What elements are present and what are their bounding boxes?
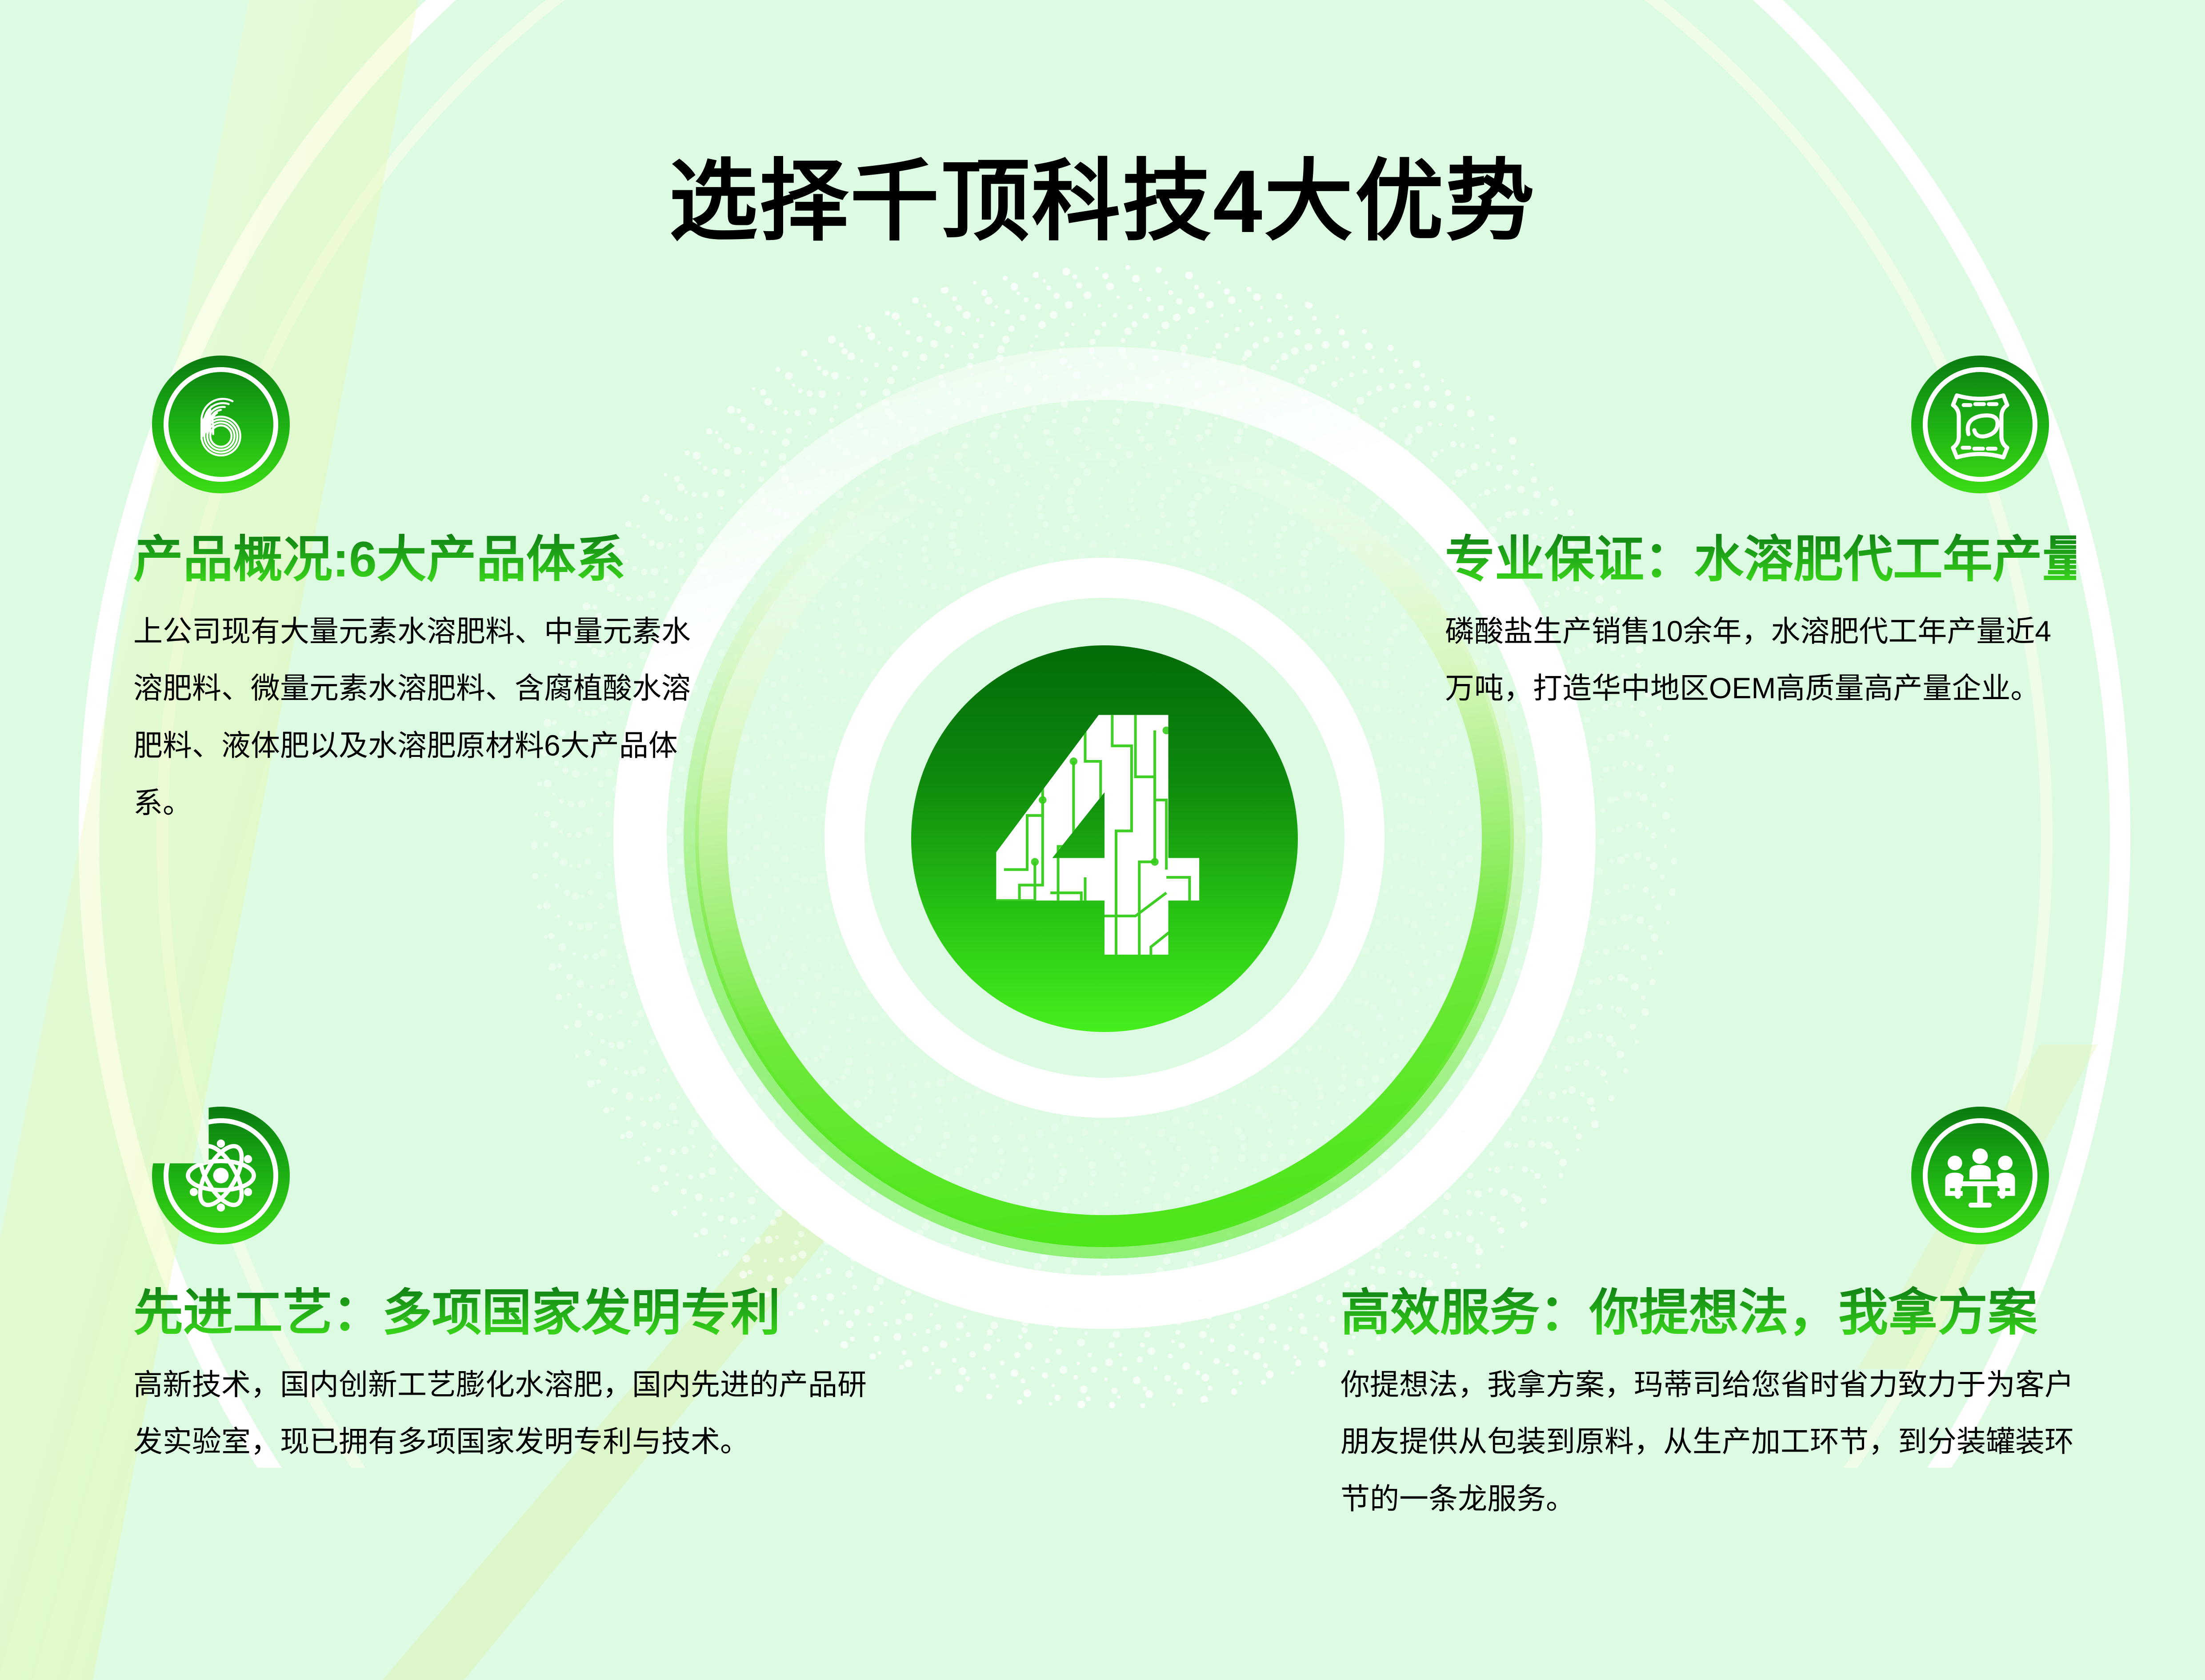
center-emblem: 4 (911, 645, 1298, 1032)
badge-advanced-process (152, 1107, 290, 1244)
advantage-body: 高新技术，国内创新工艺膨化水溶肥，国内先进的产品研发实验室，现已拥有多项国家发明… (133, 1356, 884, 1470)
infographic-canvas: 选择千顶科技4大优势 (0, 0, 2205, 1680)
page-title: 选择千顶科技4大优势 (0, 155, 2205, 248)
advantage-heading: 高效服务：你提想法，我拿方案 (1341, 1284, 2101, 1344)
atom-icon (172, 1127, 269, 1224)
advantage-body: 磷酸盐生产销售10余年，水溶肥代工年产量近4万吨，打造华中地区OEM高质量高产量… (1445, 603, 2076, 717)
fertilizer-bag-icon (1932, 376, 2029, 473)
advantage-block-advanced-process: 先进工艺：多项国家发明专利 高新技术，国内创新工艺膨化水溶肥，国内先进的产品研发… (133, 1284, 889, 1470)
advantage-heading: 先进工艺：多项国家发明专利 (133, 1284, 889, 1344)
badge-efficient-service (1911, 1107, 2049, 1244)
advantage-block-professional-guarantee: 专业保证：水溶肥代工年产量近4万吨 磷酸盐生产销售10余年，水溶肥代工年产量近4… (1445, 531, 2076, 717)
advantage-block-product-overview: 产品概况:6大产品体系 上公司现有大量元素水溶肥料、中量元素水溶肥料、微量元素水… (133, 531, 711, 832)
advantage-body: 你提想法，我拿方案，玛蒂司给您省时省力致力于为客户朋友提供从包装到原料，从生产加… (1341, 1356, 2101, 1528)
badge-product-overview (152, 356, 290, 493)
number-four-circuit-icon: 4 (911, 645, 1298, 1032)
advantage-block-efficient-service: 高效服务：你提想法，我拿方案 你提想法，我拿方案，玛蒂司给您省时省力致力于为客户… (1341, 1284, 2101, 1528)
badge-professional-guarantee (1911, 356, 2049, 493)
advantage-heading: 产品概况:6大产品体系 (133, 531, 711, 591)
advantage-body: 上公司现有大量元素水溶肥料、中量元素水溶肥料、微量元素水溶肥料、含腐植酸水溶肥料… (133, 603, 707, 832)
number-six-icon (172, 376, 269, 473)
meeting-people-icon (1932, 1127, 2029, 1224)
advantage-heading: 专业保证：水溶肥代工年产量近4万吨 (1445, 531, 2076, 591)
